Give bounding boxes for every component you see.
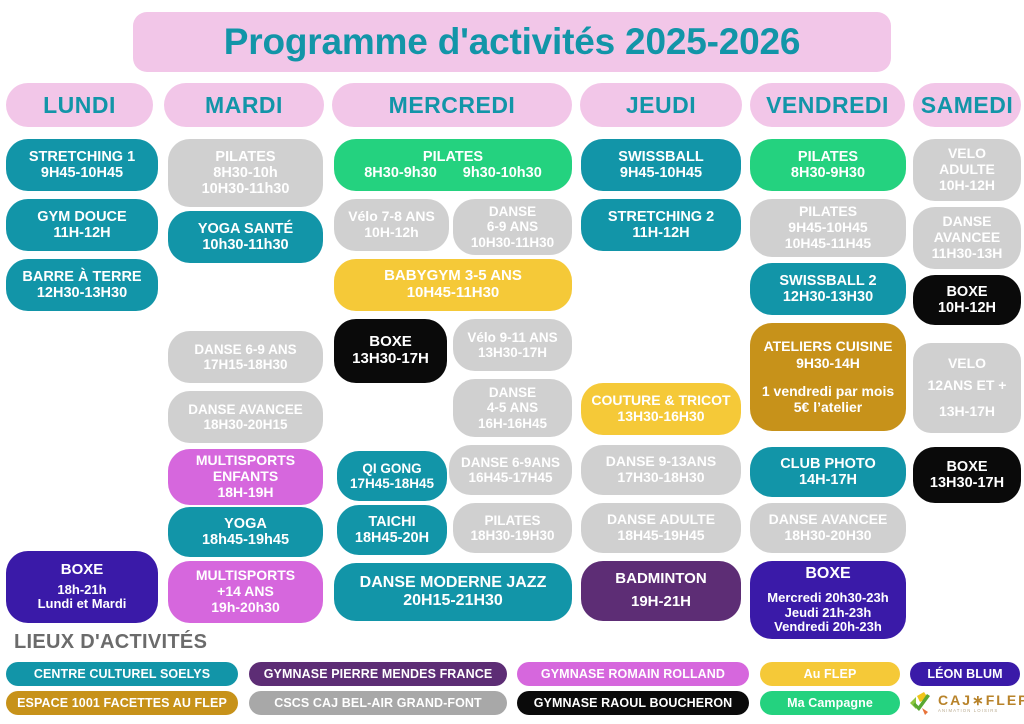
activity-chip[interactable]: BARRE À TERRE 12H30-13H30 (6, 259, 158, 311)
activity-chip[interactable]: DANSE 6-9 ANS 10H30-11H30 (453, 199, 572, 255)
activity-time: 11H30-13H (932, 246, 1003, 262)
activity-name: DANSE 6-9ANS (461, 455, 560, 470)
activity-name: ATELIERS CUISINE (764, 339, 893, 355)
activity-note-2: 5€ l’atelier (794, 400, 863, 416)
activity-name: BOXE (369, 334, 412, 351)
activity-name: DANSE (489, 204, 536, 219)
activity-name: DANSE 9-13ANS (606, 454, 716, 470)
activity-chip[interactable]: MULTISPORTS ENFANTS 18H-19H (168, 449, 323, 505)
activity-name: BADMINTON (615, 571, 706, 588)
activity-name: GYM DOUCE (37, 209, 126, 225)
activity-name: DANSE 6-9 ANS (194, 342, 296, 357)
activity-time: 18h-21h (57, 583, 106, 598)
activity-time: 12H30-13H30 (37, 285, 127, 301)
activity-chip[interactable]: VELO 12ANS ET + 13H-17H (913, 343, 1021, 433)
activity-name: SWISSBALL (618, 149, 703, 165)
activity-chip[interactable]: PILATES 8H30-9H30 (750, 139, 906, 191)
activity-time: 13H30-16H30 (617, 409, 704, 425)
activity-time: 11H-12H (632, 225, 689, 241)
activity-time: 10H-12H (938, 300, 996, 316)
activity-time-2: 10H45-11H45 (785, 236, 871, 252)
activity-chip[interactable]: DANSE 6-9 ANS 17H15-18H30 (168, 331, 323, 383)
activity-time-2: 9h30-10h30 (463, 165, 542, 181)
activity-time: 17H30-18H30 (617, 470, 704, 486)
activity-name: BOXE (946, 284, 987, 300)
activity-name: BOXE (805, 565, 850, 583)
activity-chip[interactable]: BABYGYM 3-5 ANS 10H45-11H30 (334, 259, 572, 311)
activity-name: TAICHI (368, 514, 415, 530)
activity-chip[interactable]: DANSE 4-5 ANS 16H-16H45 (453, 379, 572, 437)
legend-item[interactable]: Ma Campagne (760, 691, 900, 715)
activity-chip[interactable]: DANSE MODERNE JAZZ 20H15-21H30 (334, 563, 572, 621)
activity-time: 8H30-9h30 (364, 165, 437, 181)
day-header-lundi: LUNDI (6, 83, 153, 127)
activity-time: 18H30-20H15 (203, 417, 287, 432)
legend-item[interactable]: GYMNASE RAOUL BOUCHERON (517, 691, 749, 715)
day-header-label: LUNDI (43, 92, 116, 119)
activity-name: Vélo 9-11 ANS (467, 330, 557, 345)
activity-time: 10H30-11H30 (471, 235, 554, 250)
day-header-label: VENDREDI (766, 92, 889, 119)
activity-chip[interactable]: STRETCHING 1 9H45-10H45 (6, 139, 158, 191)
activity-name: MULTISPORTS (196, 568, 295, 584)
activity-time: 20H15-21H30 (403, 592, 503, 610)
activity-name: BARRE À TERRE (22, 269, 141, 285)
activity-name-2: 6-9 ANS (487, 219, 538, 234)
page-title: Programme d'activités 2025-2026 (224, 21, 800, 63)
activity-chip[interactable]: BOXE 13H30-17H (334, 319, 447, 383)
activity-chip[interactable]: DANSE 9-13ANS 17H30-18H30 (581, 445, 741, 495)
activity-time-2: 10H30-11h30 (202, 181, 290, 197)
day-header-vendredi: VENDREDI (750, 83, 905, 127)
activity-name: VELO (948, 356, 986, 372)
activity-time: 9H45-10H45 (41, 165, 123, 181)
activity-time: 18H-19H (217, 485, 273, 501)
legend-item[interactable]: LÉON BLUM (910, 662, 1020, 686)
activity-time: 12H30-13H30 (783, 289, 873, 305)
activity-name: YOGA SANTÉ (198, 221, 293, 237)
legend-item[interactable]: GYMNASE PIERRE MENDES FRANCE (249, 662, 507, 686)
legend-item[interactable]: CSCS CAJ BEL-AIR GRAND-FONT (249, 691, 507, 715)
activity-time: 13H-17H (939, 404, 995, 420)
activity-name: PILATES (484, 513, 540, 528)
activity-chip[interactable]: BADMINTON 19H-21H (581, 561, 741, 621)
day-header-label: MERCREDI (389, 92, 516, 119)
day-header-label: MARDI (205, 92, 283, 119)
activity-time: 10H-12H (939, 178, 995, 194)
activity-chip[interactable]: DANSE 6-9ANS 16H45-17H45 (449, 445, 572, 495)
activity-name: STRETCHING 1 (29, 149, 135, 165)
day-header-jeudi: JEUDI (580, 83, 742, 127)
day-header-label: SAMEDI (921, 92, 1013, 119)
activity-name: QI GONG (362, 461, 421, 476)
logo-word: CAJ∗FLEP (938, 693, 1024, 707)
activity-name: DANSE MODERNE JAZZ (360, 574, 547, 592)
activity-name: STRETCHING 2 (608, 209, 714, 225)
logo-wordmark: CAJ∗FLEP ANIMATION LOISIRS (938, 693, 1024, 713)
activity-chip[interactable]: Vélo 7-8 ANS 10H-12h (334, 199, 449, 251)
activity-chip[interactable]: VELO ADULTE 10H-12H (913, 139, 1021, 201)
activity-time: 9H30-14H (796, 356, 860, 372)
activity-time: 19h-20h30 (211, 600, 279, 616)
activity-name: PILATES (798, 149, 858, 165)
activity-chip[interactable]: DANSE AVANCEE 11H30-13H (913, 207, 1021, 269)
activity-name: BOXE (61, 562, 104, 579)
activity-time: 18h45-19h45 (202, 532, 289, 548)
logo-tagline: ANIMATION LOISIRS (938, 709, 1024, 713)
activity-chip[interactable]: ATELIERS CUISINE 9H30-14H 1 vendredi par… (750, 323, 906, 431)
poster-root: Programme d'activités 2025-2026 LUNDI MA… (0, 0, 1024, 724)
activity-time: 10H-12h (364, 225, 418, 241)
activity-chip[interactable]: STRETCHING 2 11H-12H (581, 199, 741, 251)
activity-time: 11H-12H (53, 225, 110, 241)
activity-time: 10h30-11h30 (202, 237, 288, 253)
activity-name: DANSE (942, 214, 991, 230)
activity-name: YOGA (224, 516, 267, 532)
activity-time: 10H45-11H30 (407, 285, 500, 302)
day-header-mercredi: MERCREDI (332, 83, 572, 127)
activity-name: DANSE AVANCEE (769, 512, 888, 528)
activity-name-2: 4-5 ANS (487, 400, 538, 415)
activity-name: CLUB PHOTO (780, 456, 876, 472)
activity-note-2: Jeudi 21h-23h (785, 606, 872, 621)
activity-chip[interactable]: GYM DOUCE 11H-12H (6, 199, 158, 251)
activity-note: 1 vendredi par mois (762, 384, 894, 400)
activity-note-3: Vendredi 20h-23h (774, 620, 882, 635)
activity-name: SWISSBALL 2 (779, 273, 876, 289)
activity-time: 18H30-20H30 (784, 528, 871, 544)
activity-time: 13H30-17H (930, 475, 1004, 491)
caj-flep-logo: CAJ∗FLEP ANIMATION LOISIRS (908, 686, 1020, 720)
activity-chip[interactable]: BOXE 18h-21h Lundi et Mardi (6, 551, 158, 623)
activity-name: DANSE AVANCEE (188, 402, 303, 417)
activity-name: PILATES (423, 149, 483, 165)
activity-chip[interactable]: DANSE AVANCEE 18H30-20H30 (750, 503, 906, 553)
page-title-pill: Programme d'activités 2025-2026 (133, 12, 891, 72)
activity-time: 18H45-19H45 (617, 528, 704, 544)
activity-name-2: AVANCEE (934, 230, 1000, 246)
activity-chip[interactable]: PILATES 8H30-9h30 9h30-10h30 (334, 139, 572, 191)
day-header-samedi: SAMEDI (913, 83, 1021, 127)
activity-name: BABYGYM 3-5 ANS (384, 268, 522, 285)
activity-name: PILATES (215, 149, 275, 165)
activity-time: 9H45-10H45 (788, 220, 867, 236)
activity-chip[interactable]: DANSE ADULTE 18H45-19H45 (581, 503, 741, 553)
activity-name-2: +14 ANS (217, 584, 274, 600)
day-header-mardi: MARDI (164, 83, 324, 127)
activity-name-2: ADULTE (939, 162, 995, 178)
activity-chip[interactable]: BOXE 10H-12H (913, 275, 1021, 325)
activity-name: MULTISPORTS (196, 453, 295, 469)
activity-name-2: 12ANS ET + (928, 378, 1007, 394)
activity-time: 19H-21H (631, 594, 691, 611)
activity-note: Mercredi 20h30-23h (767, 591, 888, 606)
activity-time: 18H45-20H (355, 530, 429, 546)
activity-name: PILATES (799, 204, 857, 220)
activity-chip[interactable]: SWISSBALL 9H45-10H45 (581, 139, 741, 191)
activity-chip[interactable]: YOGA SANTÉ 10h30-11h30 (168, 211, 323, 263)
activity-chip[interactable]: PILATES 18H30-19H30 (453, 503, 572, 553)
activity-time: 16H45-17H45 (468, 470, 552, 485)
legend-item[interactable]: Au FLEP (760, 662, 900, 686)
activity-name-2: ENFANTS (213, 469, 278, 485)
activity-name: DANSE ADULTE (607, 512, 715, 528)
activity-name: DANSE (489, 385, 536, 400)
activity-chip[interactable]: DANSE AVANCEE 18H30-20H15 (168, 391, 323, 443)
activity-time: 17H45-18H45 (350, 476, 434, 491)
day-header-label: JEUDI (626, 92, 696, 119)
activity-chip[interactable]: QI GONG 17H45-18H45 (337, 451, 447, 501)
legend-item[interactable]: GYMNASE ROMAIN ROLLAND (517, 662, 749, 686)
activity-time: 13H30-17H (478, 345, 547, 360)
activity-chip[interactable]: BOXE Mercredi 20h30-23h Jeudi 21h-23h Ve… (750, 561, 906, 639)
legend-item[interactable]: CENTRE CULTUREL SOELYS (6, 662, 238, 686)
legend-item[interactable]: ESPACE 1001 FACETTES AU FLEP (6, 691, 238, 715)
activity-time: 14H-17H (799, 472, 857, 488)
activity-chip[interactable]: MULTISPORTS +14 ANS 19h-20h30 (168, 561, 323, 623)
activity-time: 16H-16H45 (478, 416, 547, 431)
activity-time: 9H45-10H45 (620, 165, 702, 181)
activity-chip[interactable]: PILATES 8H30-10h 10H30-11h30 (168, 139, 323, 207)
activity-time: 8H30-9H30 (791, 165, 865, 181)
checkmark-logo-icon (908, 690, 934, 716)
activity-chip[interactable]: YOGA 18h45-19h45 (168, 507, 323, 557)
activity-chip[interactable]: TAICHI 18H45-20H (337, 505, 447, 555)
activity-name: VELO (948, 146, 986, 162)
activity-chip[interactable]: SWISSBALL 2 12H30-13H30 (750, 263, 906, 315)
lieux-heading: LIEUX D'ACTIVITÉS (14, 631, 207, 654)
activity-time: 13H30-17H (352, 351, 429, 368)
activity-chip[interactable]: Vélo 9-11 ANS 13H30-17H (453, 319, 572, 371)
activity-time: 18H30-19H30 (470, 528, 554, 543)
activity-chip[interactable]: CLUB PHOTO 14H-17H (750, 447, 906, 497)
activity-chip[interactable]: COUTURE & TRICOT 13H30-16H30 (581, 383, 741, 435)
activity-time: 8H30-10h (213, 165, 277, 181)
activity-chip[interactable]: BOXE 13H30-17H (913, 447, 1021, 503)
activity-chip[interactable]: PILATES 9H45-10H45 10H45-11H45 (750, 199, 906, 257)
activity-note: Lundi et Mardi (38, 597, 127, 612)
activity-name: Vélo 7-8 ANS (348, 209, 435, 225)
activity-name: BOXE (946, 459, 987, 475)
activity-name: COUTURE & TRICOT (591, 393, 730, 409)
activity-time: 17H15-18H30 (203, 357, 287, 372)
